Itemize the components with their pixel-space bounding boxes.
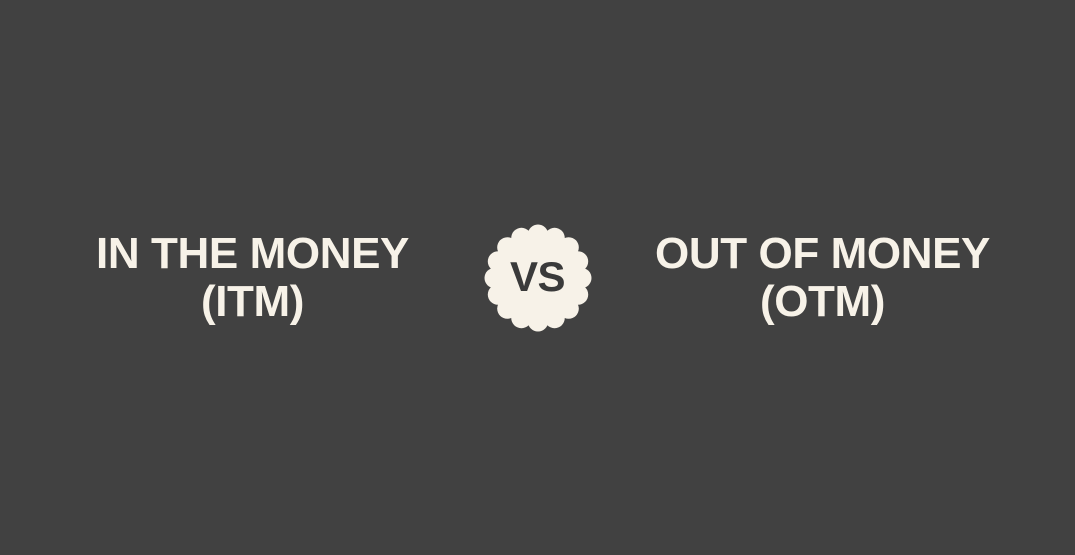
comparison-side-left: IN THE MONEY (ITM)	[53, 230, 453, 325]
comparison-side-right: OUT OF MONEY (OTM)	[623, 230, 1023, 325]
vs-badge: VS	[479, 219, 597, 337]
comparison-canvas: IN THE MONEY (ITM) VS OUT OF MONEY (OTM)	[0, 0, 1075, 555]
right-title-line-1: OUT OF MONEY	[655, 230, 990, 278]
right-title-line-2: (OTM)	[760, 278, 885, 326]
vs-label: VS	[510, 256, 565, 300]
comparison-row: IN THE MONEY (ITM) VS OUT OF MONEY (OTM)	[0, 0, 1075, 555]
left-title-line-2: (ITM)	[201, 278, 304, 326]
left-title-line-1: IN THE MONEY	[96, 230, 409, 278]
